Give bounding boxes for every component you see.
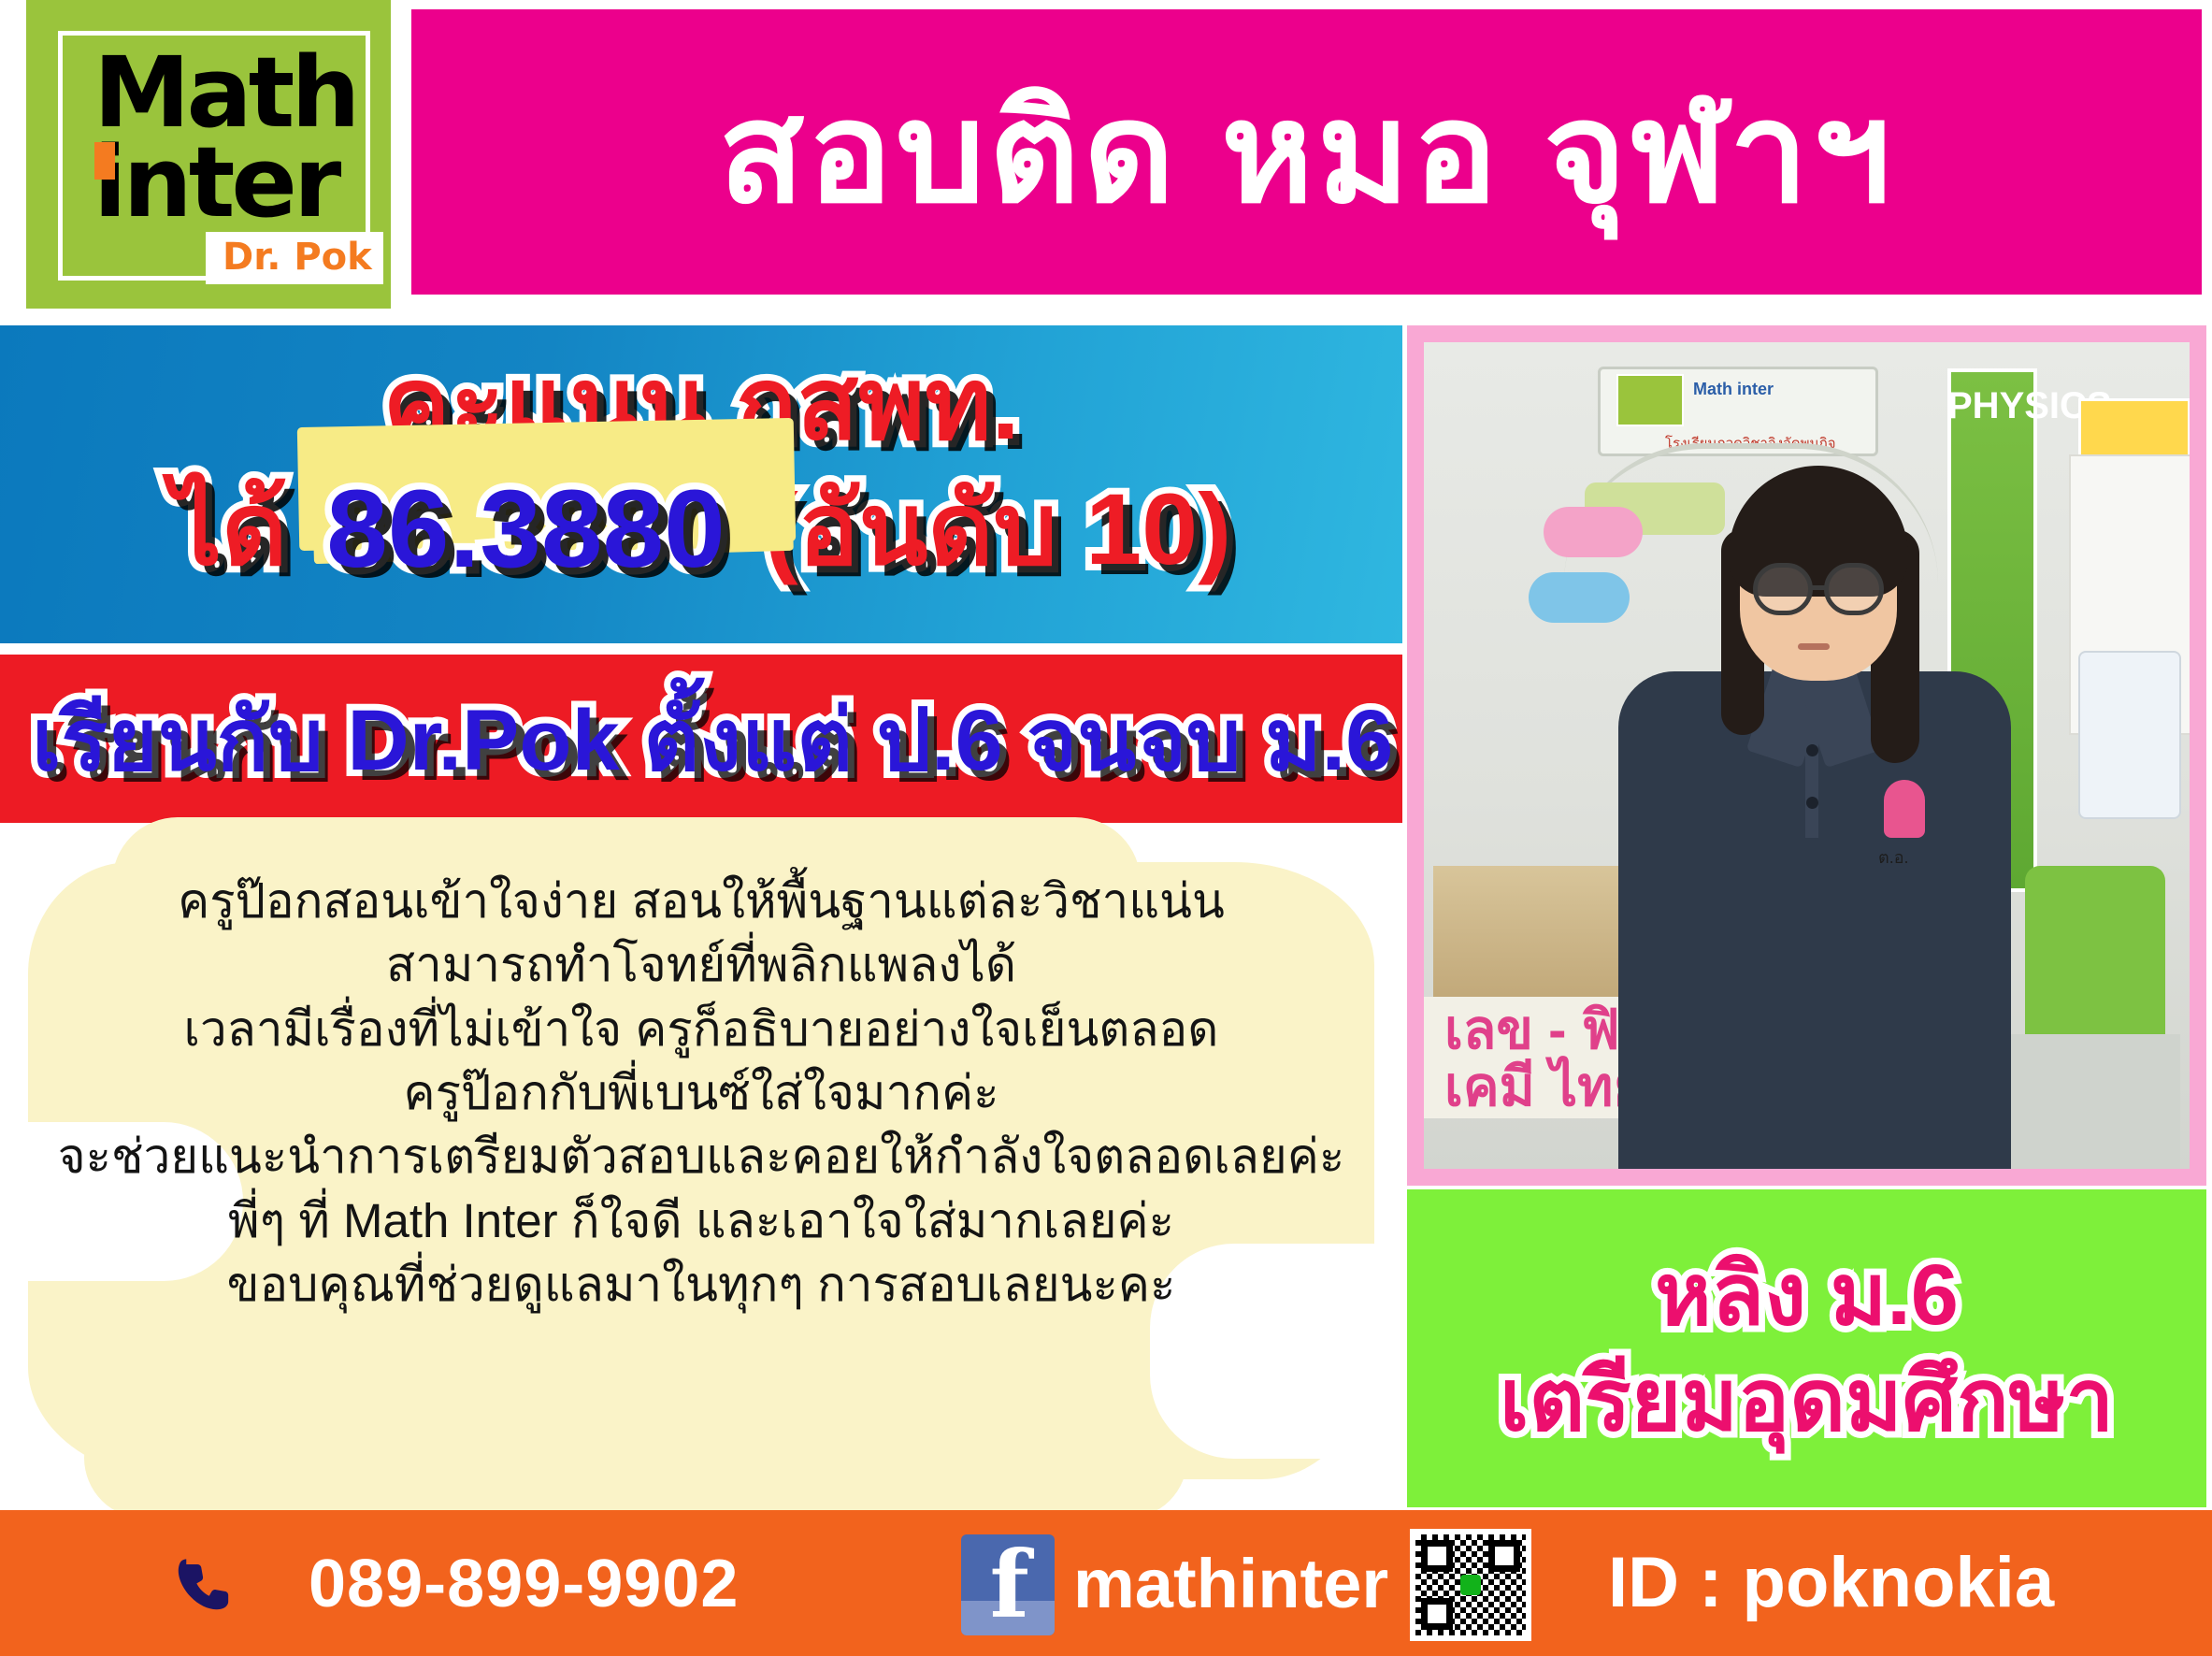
logo-inter-text: inter [93, 138, 338, 228]
score-prefix: ได้ [171, 471, 287, 587]
student-name: หลิง ม.6 [1655, 1245, 1959, 1346]
photo-signboard-logo [1616, 374, 1684, 426]
testimonial-line: ครูป๊อกกับพี่เบนซ์ใส่ใจมากค่ะ [0, 1061, 1402, 1125]
student-shirt-placket [1805, 716, 1818, 838]
photo-blue-bubble [1529, 572, 1630, 623]
facebook-handle[interactable]: mathinter [1073, 1544, 1388, 1623]
photo-signboard-text: Math inter [1693, 380, 1774, 399]
qr-finder-top-left [1421, 1540, 1453, 1572]
page-title: สอบติด หมอ จุฬาฯ [719, 82, 1895, 223]
qr-line-logo [1460, 1575, 1481, 1595]
qr-finder-top-right [1488, 1540, 1520, 1572]
testimonial-line: ครูป๊อกสอนเข้าใจง่าย สอนให้พื้นฐานแต่ละว… [0, 870, 1402, 933]
testimonial-line: เวลามีเรื่องที่ไม่เข้าใจ ครูก็อธิบายอย่า… [0, 998, 1402, 1061]
student-photo-frame: Math inter โรงเรียนกวดวิชาจิงจัดพนกิจ PH… [1407, 325, 2206, 1186]
photo-pink-line-1: เลข - ฟิ [1444, 1000, 1620, 1060]
score-rank: (อันดับ 10) [765, 471, 1231, 587]
photo-pink-bubble [1544, 507, 1643, 557]
brand-logo: Math inter Dr. Pok [26, 0, 391, 309]
score-value: 86.3880 [326, 468, 725, 591]
student-shirt-emblem [1884, 780, 1925, 838]
student-name-panel: หลิง ม.6 เตรียมอุดมศึกษา [1407, 1189, 2206, 1507]
line-id[interactable]: ID : poknokia [1608, 1542, 2054, 1623]
student-glasses-left-lens [1753, 563, 1813, 615]
testimonial-text: ครูป๊อกสอนเข้าใจง่าย สอนให้พื้นฐานแต่ละว… [0, 870, 1402, 1317]
testimonial-line: พี่ๆ ที่ Math Inter ก็ใจดี และเอาใจใส่มา… [0, 1189, 1402, 1253]
student-photo: Math inter โรงเรียนกวดวิชาจิงจัดพนกิจ PH… [1424, 342, 2190, 1169]
facebook-icon-glyph: f [990, 1540, 1029, 1632]
student-glasses-right-lens [1824, 563, 1884, 615]
student-emblem-label: ต.อ. [1878, 843, 1909, 871]
student-mouth [1798, 643, 1830, 650]
testimonial-line: สามารถทำโจทย์ที่พลิกแพลงได้ [0, 933, 1402, 997]
score-highlight-wrap: 86.3880 [304, 466, 748, 593]
testimonial-line: จะช่วยแนะนำการเตรียมตัวสอบและคอยให้กำลัง… [0, 1125, 1402, 1188]
phone-icon [168, 1549, 234, 1622]
photo-desk [2003, 1034, 2180, 1169]
qr-code-icon [1410, 1529, 1531, 1641]
student-glasses-bridge [1811, 585, 1826, 590]
score-panel: คะแนน กสพท. ได้ 86.3880 (อันดับ 10) [0, 325, 1402, 643]
header-banner: สอบติด หมอ จุฬาฯ [411, 9, 2202, 295]
facebook-icon[interactable]: f [961, 1534, 1055, 1635]
red-banner-text: เรียนกับ Dr.Pok ตั้งแต่ ป.6 จนจบ ม.6 [32, 670, 1393, 808]
logo-tagline-text: Dr. Pok [223, 236, 372, 279]
poster-root: Math inter Dr. Pok สอบติด หมอ จุฬาฯ คะแน… [0, 0, 2212, 1656]
student-shirt-button [1806, 797, 1818, 809]
contact-footer: 089-899-9902 f mathinter ID : poknokia [0, 1510, 2212, 1656]
qr-finder-bottom-left [1421, 1598, 1453, 1630]
student-school: เตรียมอุดมศึกษา [1500, 1350, 2114, 1452]
student-shirt-button [1806, 744, 1818, 756]
logo-accent-mark [94, 142, 115, 180]
red-banner: เรียนกับ Dr.Pok ตั้งแต่ ป.6 จนจบ ม.6 [0, 655, 1402, 823]
photo-physics-label: PHYSICS [1947, 380, 2037, 433]
photo-cartoon-poster [2078, 651, 2181, 819]
testimonial-line: ขอบคุณที่ช่วยดูแลมาในทุกๆ การสอบเลยนะคะ [0, 1253, 1402, 1317]
phone-number[interactable]: 089-899-9902 [309, 1546, 739, 1622]
score-value-row: ได้ 86.3880 (อันดับ 10) [0, 466, 1402, 593]
testimonial-section: ครูป๊อกสอนเข้าใจง่าย สอนให้พื้นฐานแต่ละว… [0, 842, 1402, 1496]
